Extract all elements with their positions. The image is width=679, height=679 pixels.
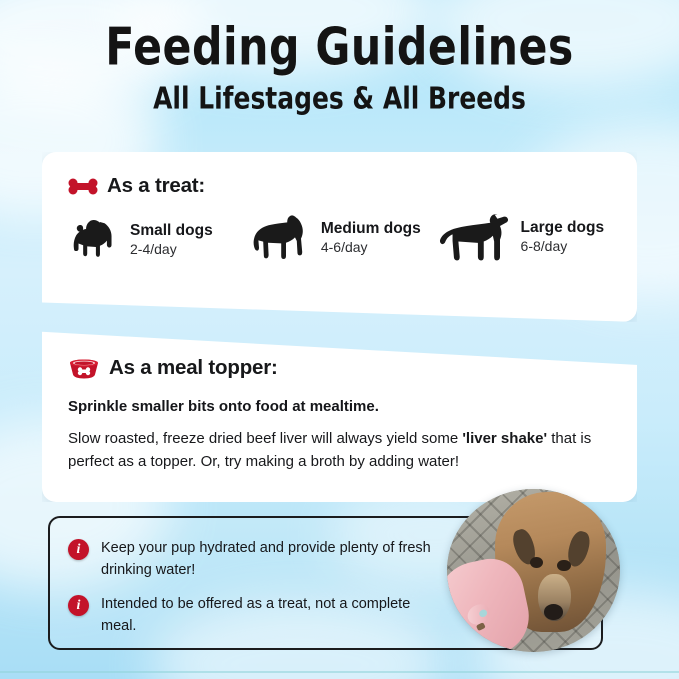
note-item: i Intended to be offered as a treat, not… bbox=[68, 594, 438, 638]
medium-dog-silhouette-icon bbox=[247, 214, 313, 262]
dog-size-label: Medium dogs bbox=[321, 220, 421, 238]
dog-nose bbox=[544, 604, 563, 619]
topper-body-bold: 'liver shake' bbox=[462, 430, 547, 447]
dog-amount-label: 4-6/day bbox=[321, 239, 421, 257]
info-icon: i bbox=[68, 595, 89, 616]
info-icon-glyph: i bbox=[77, 543, 81, 557]
topper-section-heading: As a meal topper: bbox=[68, 356, 278, 380]
dog-receiving-treat-photo bbox=[447, 489, 620, 652]
feeding-guidelines-infographic: Feeding Guidelines All Lifestages & All … bbox=[0, 0, 679, 679]
dog-size-label: Small dogs bbox=[130, 222, 213, 240]
as-a-treat-card: As a treat: Small dogs 2-4/day bbox=[42, 152, 637, 322]
treat-section-heading: As a treat: bbox=[68, 174, 205, 198]
dog-size-list: Small dogs 2-4/day Medium dogs 4-6/day bbox=[64, 212, 627, 262]
topper-body-text: Slow roasted, freeze dried beef liver wi… bbox=[68, 427, 613, 474]
note-item: i Keep your pup hydrated and provide ple… bbox=[68, 538, 438, 582]
dog-eye-right bbox=[557, 560, 570, 571]
bone-icon bbox=[68, 178, 98, 195]
list-item: Large dogs 6-8/day bbox=[435, 212, 627, 262]
info-icon: i bbox=[68, 539, 89, 560]
topper-section-title: As a meal topper: bbox=[109, 356, 278, 380]
info-icon-glyph: i bbox=[77, 599, 81, 613]
list-item-text: Medium dogs 4-6/day bbox=[321, 220, 421, 256]
list-item-text: Large dogs 6-8/day bbox=[521, 219, 605, 255]
note-text: Intended to be offered as a treat, not a… bbox=[101, 594, 438, 638]
page-title: Feeding Guidelines bbox=[10, 22, 669, 75]
note-text: Keep your pup hydrated and provide plent… bbox=[101, 538, 438, 582]
dog-amount-label: 6-8/day bbox=[521, 238, 605, 256]
large-dog-silhouette-icon bbox=[435, 212, 513, 262]
topper-body-before: Slow roasted, freeze dried beef liver wi… bbox=[68, 430, 462, 447]
topper-lead-text: Sprinkle smaller bits onto food at mealt… bbox=[68, 398, 379, 415]
treat-section-title: As a treat: bbox=[107, 174, 205, 198]
page-subtitle: All Lifestages & All Breeds bbox=[14, 82, 666, 117]
dog-eye-left bbox=[530, 557, 543, 568]
bottom-divider bbox=[0, 671, 679, 673]
list-item: Medium dogs 4-6/day bbox=[247, 214, 435, 262]
dog-amount-label: 2-4/day bbox=[130, 241, 213, 259]
list-item-text: Small dogs 2-4/day bbox=[130, 222, 213, 258]
dog-size-label: Large dogs bbox=[521, 219, 605, 237]
small-dog-silhouette-icon bbox=[64, 218, 122, 262]
dog-bowl-icon bbox=[68, 358, 100, 379]
header: Feeding Guidelines All Lifestages & All … bbox=[0, 22, 679, 112]
list-item: Small dogs 2-4/day bbox=[64, 218, 247, 262]
